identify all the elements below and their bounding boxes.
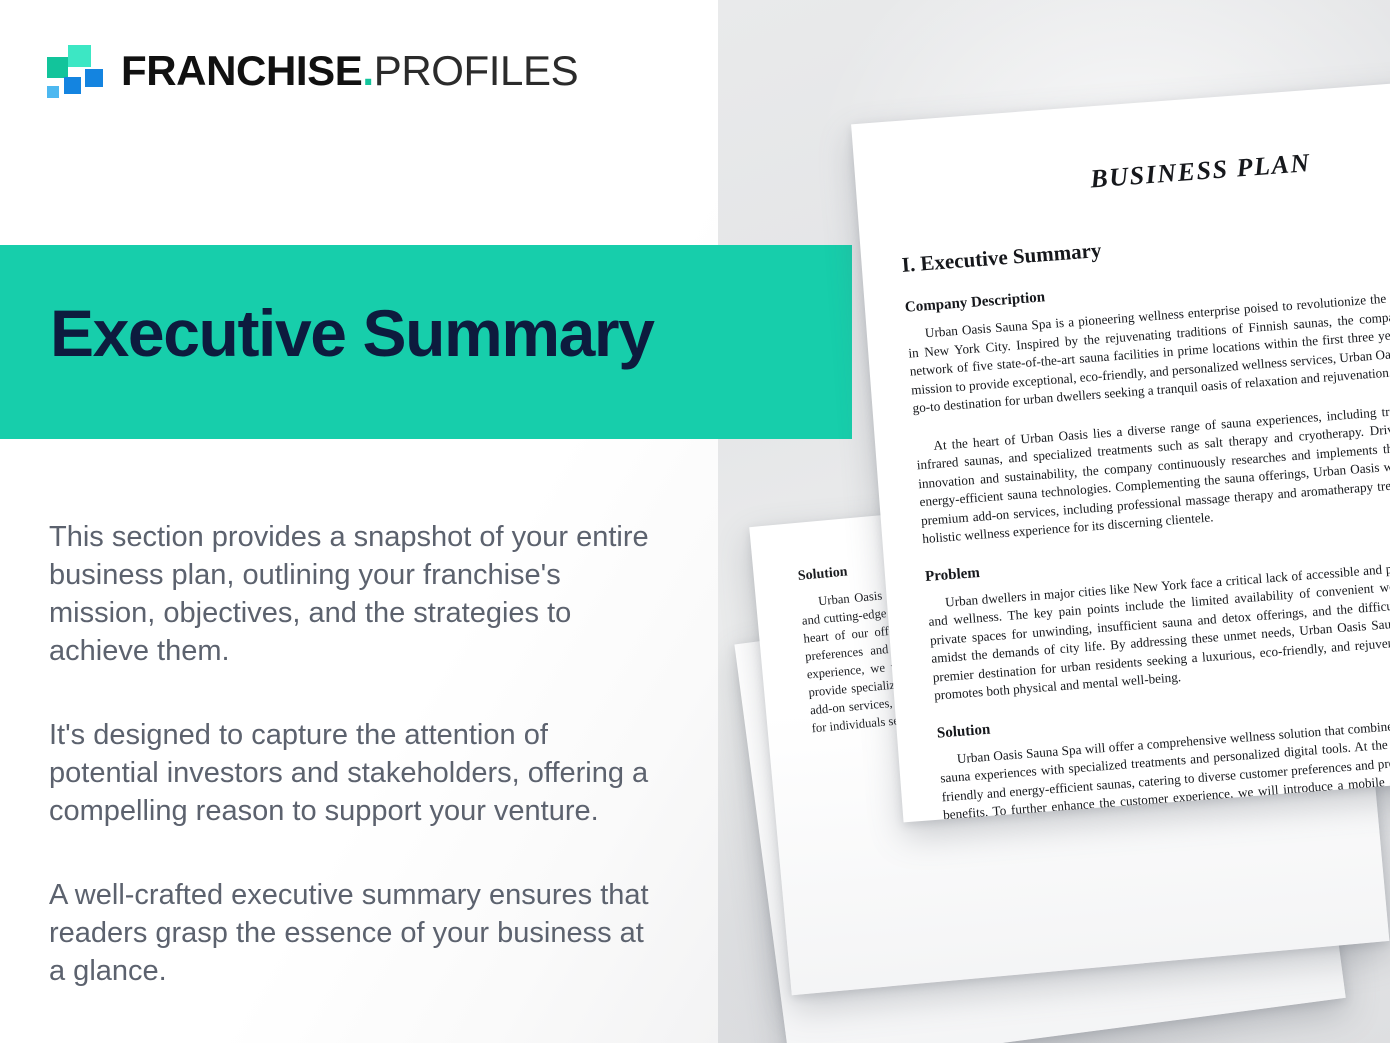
document-section-heading: I. Executive Summary: [901, 207, 1390, 278]
slide-executive-summary: FRANCHISE.PROFILES Executive Summary Thi…: [0, 0, 1390, 1043]
body-paragraph-2: It's designed to capture the attention o…: [49, 716, 649, 830]
body-paragraph-3: A well-crafted executive summary ensures…: [49, 876, 649, 990]
logo-square-mint: [68, 45, 91, 67]
body-copy: This section provides a snapshot of your…: [49, 518, 649, 990]
logo-square-blue-right: [85, 69, 103, 87]
document-stack: demands of city life. Solution Urban Oas…: [718, 0, 1390, 1043]
document-title: BUSINESS PLAN: [895, 133, 1390, 209]
brand-name-bold: FRANCHISE: [121, 47, 362, 94]
document-page-front: BUSINESS PLAN I. Executive Summary Compa…: [851, 73, 1390, 823]
logo-square-sky: [47, 86, 59, 98]
brand-logo[interactable]: FRANCHISE.PROFILES: [45, 40, 578, 102]
brand-wordmark: FRANCHISE.PROFILES: [121, 50, 578, 92]
page-title: Executive Summary: [50, 300, 654, 366]
logo-square-teal: [47, 57, 68, 78]
logo-mark-squares: [45, 45, 103, 97]
document-page-front-content: BUSINESS PLAN I. Executive Summary Compa…: [851, 73, 1390, 823]
brand-name-dot: .: [362, 47, 373, 94]
logo-square-blue-center: [64, 77, 81, 94]
body-paragraph-1: This section provides a snapshot of your…: [49, 518, 649, 670]
document-paragraph-company-2: At the heart of Urban Oasis lies a diver…: [915, 392, 1390, 548]
brand-name-light: PROFILES: [374, 47, 579, 94]
